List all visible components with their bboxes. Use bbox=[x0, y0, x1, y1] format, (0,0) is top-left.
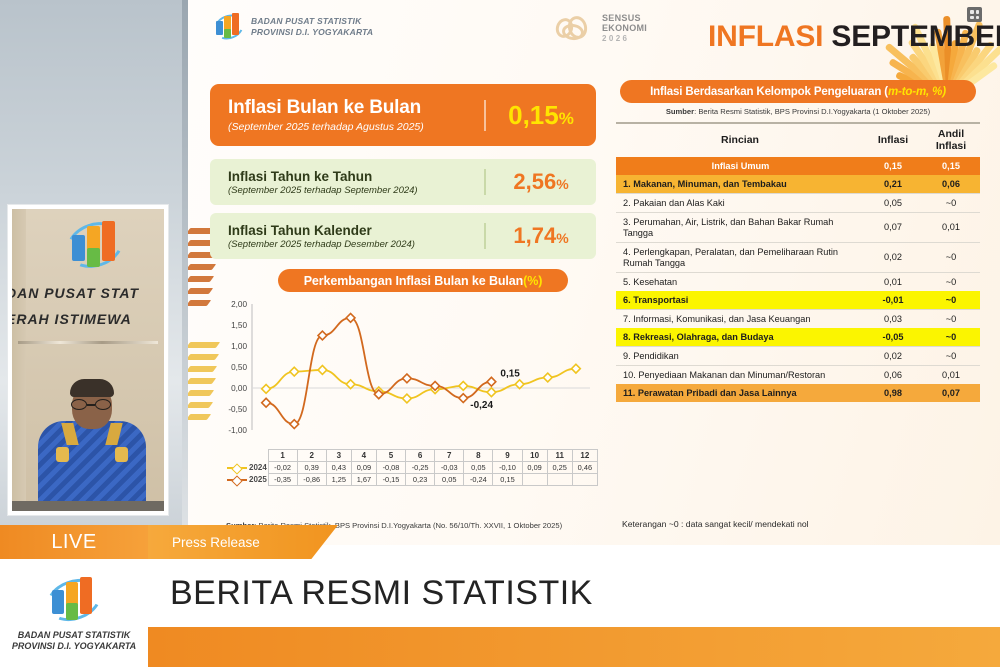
expenditure-group-table: RincianInflasiAndil InflasiInflasi Umum0… bbox=[616, 122, 980, 402]
table-row: Inflasi Umum0,150,15 bbox=[616, 157, 980, 175]
chart-col-header: 5 bbox=[376, 450, 405, 462]
legend-marker-2025 bbox=[227, 476, 247, 484]
chart-col-header: 12 bbox=[572, 450, 597, 462]
row-label: Inflasi Umum bbox=[616, 157, 864, 175]
chart-col-header: 11 bbox=[547, 450, 572, 462]
row-label: 8. Rekreasi, Olahraga, dan Budaya bbox=[616, 328, 864, 347]
ident-caption: BADAN PUSAT STATISTIK PROVINSI D.I. YOGY… bbox=[12, 630, 136, 653]
group-table-title-pill: Inflasi Berdasarkan Kelompok Pengeluaran… bbox=[620, 80, 976, 103]
sensus-line1: SENSUS bbox=[602, 13, 647, 23]
row-andil: 0,15 bbox=[922, 157, 980, 175]
kpi-mtm-subtitle: (September 2025 terhadap Agustus 2025) bbox=[228, 121, 484, 133]
chart-title-text: Perkembangan Inflasi Bulan ke Bulan bbox=[304, 274, 523, 288]
chart-col-header: 9 bbox=[493, 450, 522, 462]
chart-cell: 0,23 bbox=[406, 474, 435, 486]
kpi-mtm-value: 0,15 bbox=[508, 100, 559, 130]
chart-cell: 0,15 bbox=[493, 474, 522, 486]
chart-col-header: 3 bbox=[326, 450, 351, 462]
row-label: 3. Perumahan, Air, Listrik, dan Bahan Ba… bbox=[616, 213, 864, 243]
chart-data-table: 1234567891011122024-0,020,390,430,09-0,0… bbox=[226, 449, 598, 486]
row-label: 9. Pendidikan bbox=[616, 347, 864, 366]
row-inflasi: -0,01 bbox=[864, 291, 922, 310]
row-andil: ~0 bbox=[922, 291, 980, 310]
chart-col-header: 7 bbox=[435, 450, 464, 462]
grid-view-icon[interactable] bbox=[967, 7, 982, 22]
row-andil: ~0 bbox=[922, 273, 980, 292]
row-inflasi: 0,02 bbox=[864, 347, 922, 366]
chart-cell: 0,09 bbox=[351, 462, 376, 474]
chart-cell: 0,05 bbox=[464, 462, 493, 474]
kpi-card-month-to-month: Inflasi Bulan ke Bulan (September 2025 t… bbox=[210, 84, 596, 146]
table-row: 8. Rekreasi, Olahraga, dan Budaya-0,05~0 bbox=[616, 328, 980, 347]
page-title: INFLASI SEPTEMBER 2025 bbox=[708, 20, 1000, 54]
presenter-figure bbox=[38, 377, 146, 509]
desk bbox=[12, 501, 164, 511]
chart-cell: -0,03 bbox=[435, 462, 464, 474]
sensus-glyph-icon bbox=[554, 14, 596, 42]
ident-bps-mark-icon bbox=[46, 574, 102, 626]
chart-cell: -0,24 bbox=[464, 474, 493, 486]
chart-cell: 0,46 bbox=[572, 462, 597, 474]
sensus-ekonomi-logo: SENSUS EKONOMI 2026 bbox=[554, 13, 647, 43]
chart-cell: -0,25 bbox=[406, 462, 435, 474]
kpi-yoy-value-wrap: 2,56% bbox=[484, 169, 596, 195]
row-andil: ~0 bbox=[922, 328, 980, 347]
svg-text:-0,50: -0,50 bbox=[228, 405, 247, 414]
group-pill-tail: , %) bbox=[926, 86, 946, 98]
kpi-ytd-value: 1,74 bbox=[513, 223, 556, 248]
sensus-logo-text: SENSUS EKONOMI 2026 bbox=[602, 13, 647, 43]
row-andil: ~0 bbox=[922, 194, 980, 213]
headline-text: BERITA RESMI STATISTIK bbox=[170, 574, 593, 613]
stripe bbox=[188, 288, 213, 294]
stripe bbox=[188, 276, 214, 282]
row-label: 2. Pakaian dan Alas Kaki bbox=[616, 194, 864, 213]
chart-cell: 0,25 bbox=[547, 462, 572, 474]
stripe bbox=[188, 300, 211, 306]
chart-cell: 0,39 bbox=[297, 462, 326, 474]
source-note-right: Sumber: Berita Resmi Statistik, BPS Prov… bbox=[620, 107, 976, 116]
page-title-rest: SEPTEMBER 2025 bbox=[831, 20, 1000, 53]
press-release-chip: Press Release bbox=[148, 525, 338, 559]
row-label: 11. Perawatan Pribadi dan Jasa Lainnya bbox=[616, 384, 864, 402]
bps-logo-line2: PROVINSI D.I. YOGYAKARTA bbox=[251, 27, 373, 38]
source-right-text: : Berita Resmi Statistik, BPS Provinsi D… bbox=[694, 107, 930, 116]
row-label: 5. Kesehatan bbox=[616, 273, 864, 292]
legend-marker-2024 bbox=[227, 464, 247, 472]
kpi-ytd-value-wrap: 1,74% bbox=[484, 223, 596, 249]
chart-cell: 0,05 bbox=[435, 474, 464, 486]
ident-line1: BADAN PUSAT STATISTIK bbox=[12, 630, 136, 641]
table-row: 2025-0,35-0,861,251,67-0,150,230,05-0,24… bbox=[226, 474, 598, 486]
table-row: 11. Perawatan Pribadi dan Jasa Lainnya0,… bbox=[616, 384, 980, 402]
row-inflasi: 0,03 bbox=[864, 310, 922, 329]
presenter-torso bbox=[38, 421, 146, 509]
headline-accent-strip bbox=[148, 627, 1000, 667]
row-andil: ~0 bbox=[922, 243, 980, 273]
stripe bbox=[188, 264, 216, 270]
svg-text:-0,24: -0,24 bbox=[470, 400, 493, 411]
chart-col-header: 6 bbox=[406, 450, 435, 462]
row-inflasi: -0,05 bbox=[864, 328, 922, 347]
sensus-line2: EKONOMI bbox=[602, 23, 647, 33]
group-pill-text: Inflasi Berdasarkan Kelompok Pengeluaran… bbox=[650, 86, 888, 98]
group-pill-em: m-to-m bbox=[888, 86, 926, 98]
glasses-icon bbox=[70, 399, 114, 410]
wall-text-line2: ERAH ISTIMEWA bbox=[12, 311, 132, 327]
uniform-badge-left bbox=[56, 447, 69, 462]
ident-line2: PROVINSI D.I. YOGYAKARTA bbox=[12, 641, 136, 652]
row-label: 7. Informasi, Komunikasi, dan Jasa Keuan… bbox=[616, 310, 864, 329]
chart-col-header: 8 bbox=[464, 450, 493, 462]
chart-col-header: 1 bbox=[268, 450, 297, 462]
table-row: 3. Perumahan, Air, Listrik, dan Bahan Ba… bbox=[616, 213, 980, 243]
row-inflasi: 0,15 bbox=[864, 157, 922, 175]
chart-cell: -0,10 bbox=[493, 462, 522, 474]
wall-bps-logo-icon bbox=[64, 217, 126, 273]
inflation-line-chart-svg: 2,001,501,000,500,00-0,50-1,000,15-0,24 bbox=[210, 296, 598, 464]
sensus-year: 2026 bbox=[602, 34, 647, 43]
table-row: 1. Makanan, Minuman, dan Tembakau0,210,0… bbox=[616, 175, 980, 194]
bps-logo-text: BADAN PUSAT STATISTIK PROVINSI D.I. YOGY… bbox=[251, 16, 373, 37]
page-title-highlight: INFLASI bbox=[708, 20, 823, 53]
chart-title-pill: Perkembangan Inflasi Bulan ke Bulan (%) bbox=[278, 269, 568, 292]
chart-cell: -0,86 bbox=[297, 474, 326, 486]
svg-text:-1,00: -1,00 bbox=[228, 426, 247, 435]
live-label: LIVE bbox=[51, 531, 96, 554]
row-inflasi: 0,01 bbox=[864, 273, 922, 292]
row-inflasi: 0,07 bbox=[864, 213, 922, 243]
svg-text:2,00: 2,00 bbox=[231, 300, 247, 309]
presenter-video-frame: DAN PUSAT STAT ERAH ISTIMEWA bbox=[12, 209, 164, 511]
col-header-andil: Andil Inflasi bbox=[922, 123, 980, 157]
broadcast-lower-third: Press Release LIVE BERITA RESMI STATISTI… bbox=[0, 525, 1000, 667]
row-andil: 0,06 bbox=[922, 175, 980, 194]
bps-logo: BADAN PUSAT STATISTIK PROVINSI D.I. YOGY… bbox=[214, 12, 373, 42]
chart-cell bbox=[522, 474, 547, 486]
legend-2024: 2024 bbox=[226, 462, 268, 474]
table-row: 5. Kesehatan0,01~0 bbox=[616, 273, 980, 292]
svg-text:0,50: 0,50 bbox=[231, 363, 247, 372]
table-row: 7. Informasi, Komunikasi, dan Jasa Keuan… bbox=[616, 310, 980, 329]
row-label: 1. Makanan, Minuman, dan Tembakau bbox=[616, 175, 864, 194]
table-row: 10. Penyediaan Makanan dan Minuman/Resto… bbox=[616, 366, 980, 385]
wall-rail bbox=[18, 341, 158, 344]
live-badge: LIVE bbox=[0, 525, 148, 559]
chart-col-header: 2 bbox=[297, 450, 326, 462]
chart-cell: 0,43 bbox=[326, 462, 351, 474]
kpi-yoy-subtitle: (September 2025 terhadap September 2024) bbox=[228, 185, 484, 196]
row-andil: 0,07 bbox=[922, 384, 980, 402]
press-release-label: Press Release bbox=[172, 535, 260, 550]
kpi-yoy-unit: % bbox=[556, 176, 568, 192]
table-row: 6. Transportasi-0,01~0 bbox=[616, 291, 980, 310]
stripe bbox=[188, 414, 211, 420]
kpi-ytd-subtitle: (September 2025 terhadap Desember 2024) bbox=[228, 239, 484, 250]
chart-cell: 1,67 bbox=[351, 474, 376, 486]
chart-cell: -0,08 bbox=[376, 462, 405, 474]
chart-cell: 0,09 bbox=[522, 462, 547, 474]
row-label: 10. Penyediaan Makanan dan Minuman/Resto… bbox=[616, 366, 864, 385]
chart-title-unit: (%) bbox=[523, 274, 542, 288]
stripe bbox=[188, 402, 213, 408]
table-row: 2. Pakaian dan Alas Kaki0,05~0 bbox=[616, 194, 980, 213]
chart-cell bbox=[547, 474, 572, 486]
svg-text:0,00: 0,00 bbox=[231, 384, 247, 393]
uniform-badge-right bbox=[115, 447, 128, 462]
kpi-ytd-title: Inflasi Tahun Kalender bbox=[228, 223, 484, 238]
bps-logo-line1: BADAN PUSAT STATISTIK bbox=[251, 16, 373, 27]
svg-text:1,50: 1,50 bbox=[231, 321, 247, 330]
chart-col-header: 10 bbox=[522, 450, 547, 462]
kpi-mtm-value-wrap: 0,15% bbox=[484, 100, 596, 131]
chart-cell: 1,25 bbox=[326, 474, 351, 486]
kpi-yoy-title: Inflasi Tahun ke Tahun bbox=[228, 169, 484, 184]
chart-cell bbox=[572, 474, 597, 486]
kpi-card-calendar-year: Inflasi Tahun Kalender (September 2025 t… bbox=[210, 213, 596, 259]
table-row: 2024-0,020,390,430,09-0,08-0,25-0,030,05… bbox=[226, 462, 598, 474]
row-andil: 0,01 bbox=[922, 213, 980, 243]
row-andil: ~0 bbox=[922, 310, 980, 329]
wall-text-line1: DAN PUSAT STAT bbox=[12, 285, 139, 301]
chart-col-header: 4 bbox=[351, 450, 376, 462]
svg-text:0,15: 0,15 bbox=[500, 369, 520, 380]
source-right-label: Sumber bbox=[666, 107, 694, 116]
row-inflasi: 0,21 bbox=[864, 175, 922, 194]
chart-cell: -0,02 bbox=[268, 462, 297, 474]
kpi-mtm-title: Inflasi Bulan ke Bulan bbox=[228, 97, 484, 119]
kpi-yoy-value: 2,56 bbox=[513, 169, 556, 194]
row-inflasi: 0,02 bbox=[864, 243, 922, 273]
col-header-rincian: Rincian bbox=[616, 123, 864, 157]
station-ident: BADAN PUSAT STATISTIK PROVINSI D.I. YOGY… bbox=[0, 559, 148, 667]
row-label: 6. Transportasi bbox=[616, 291, 864, 310]
chart-cell: -0,35 bbox=[268, 474, 297, 486]
presentation-slide: BADAN PUSAT STATISTIK PROVINSI D.I. YOGY… bbox=[188, 0, 1000, 545]
row-andil: 0,01 bbox=[922, 366, 980, 385]
kpi-card-year-to-year: Inflasi Tahun ke Tahun (September 2025 t… bbox=[210, 159, 596, 205]
col-header-inflasi: Inflasi bbox=[864, 123, 922, 157]
svg-text:1,00: 1,00 bbox=[231, 342, 247, 351]
row-inflasi: 0,05 bbox=[864, 194, 922, 213]
presenter-video-inset[interactable]: DAN PUSAT STAT ERAH ISTIMEWA bbox=[8, 205, 168, 515]
row-andil: ~0 bbox=[922, 347, 980, 366]
legend-2025: 2025 bbox=[226, 474, 268, 486]
table-row: 4. Perlengkapan, Peralatan, dan Pemeliha… bbox=[616, 243, 980, 273]
kpi-mtm-unit: % bbox=[559, 109, 574, 128]
presenter-hair bbox=[70, 379, 114, 397]
row-inflasi: 0,06 bbox=[864, 366, 922, 385]
chart-cell: -0,15 bbox=[376, 474, 405, 486]
row-label: 4. Perlengkapan, Peralatan, dan Pemeliha… bbox=[616, 243, 864, 273]
slide-stage: BADAN PUSAT STATISTIK PROVINSI D.I. YOGY… bbox=[0, 0, 1000, 667]
headline-bar: BERITA RESMI STATISTIK bbox=[148, 559, 1000, 627]
bps-mark-icon bbox=[214, 12, 244, 42]
video-left-crop bbox=[12, 209, 26, 511]
kpi-ytd-unit: % bbox=[556, 230, 568, 246]
row-inflasi: 0,98 bbox=[864, 384, 922, 402]
table-row: 9. Pendidikan0,02~0 bbox=[616, 347, 980, 366]
